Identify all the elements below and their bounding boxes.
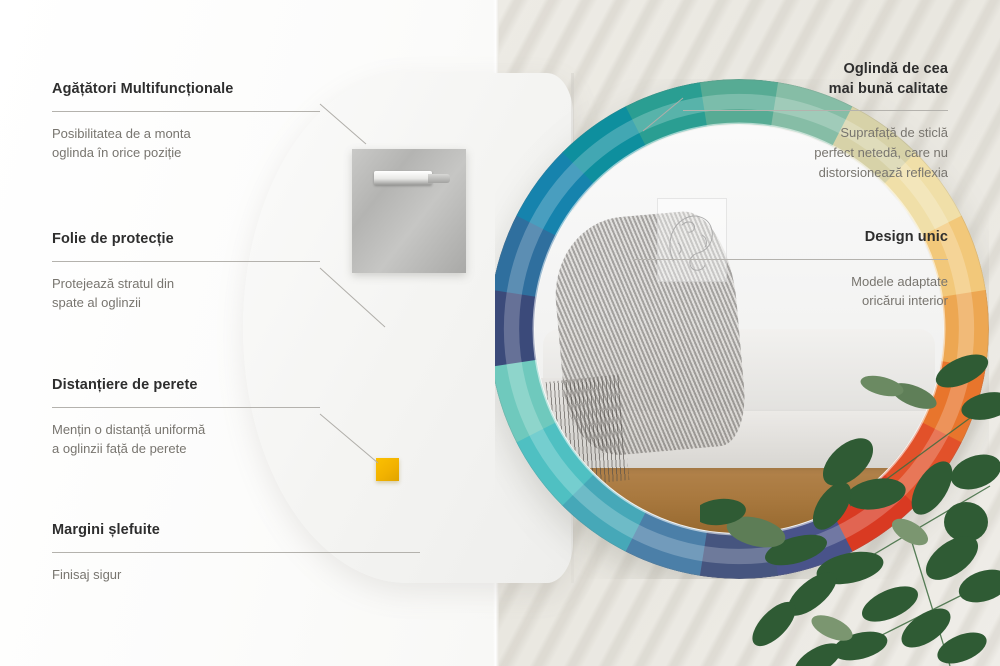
callout-rule [52,261,320,262]
callout-title: Oglindă de cea mai bună calitate [683,60,948,99]
callout-protective-film: Folie de protecție Protejează stratul di… [52,230,320,313]
callout-rule [683,110,948,111]
callout-body: Mențin o distanță uniformă a oglinzii fa… [52,420,320,460]
callout-body: Modele adaptate oricărui interior [633,272,948,312]
callout-rule [52,407,320,408]
callout-wall-spacers: Distanțiere de perete Mențin o distanță … [52,376,320,459]
callout-body: Suprafață de sticlă perfect netedă, care… [683,123,948,182]
callout-title: Folie de protecție [52,230,320,250]
callout-polished-edges: Margini șlefuite Finisaj sigur [52,521,420,584]
callout-hangers: Agățători Multifuncționale Posibilitatea… [52,80,320,163]
callout-body: Finisaj sigur [52,565,420,585]
callout-title: Distanțiere de perete [52,376,320,396]
foliage-decoration [700,336,1000,666]
callout-title: Design unic [633,228,948,248]
wall-spacer [376,458,399,481]
callout-rule [633,259,948,260]
callout-mirror-quality: Oglindă de cea mai bună calitate Suprafa… [683,60,948,182]
callout-unique-design: Design unic Modele adaptate oricărui int… [633,228,948,311]
hanger-bracket [352,149,466,273]
keyhole-slot-icon [374,171,432,185]
callout-rule [52,552,420,553]
reflection-throw-fringe [546,374,630,487]
callout-rule [52,111,320,112]
callout-title: Margini șlefuite [52,521,420,541]
callout-body: Protejează stratul din spate al oglinzii [52,274,320,314]
callout-body: Posibilitatea de a monta oglinda în oric… [52,124,320,164]
callout-title: Agățători Multifuncționale [52,80,320,100]
infographic-canvas: Agățători Multifuncționale Posibilitatea… [0,0,1000,666]
